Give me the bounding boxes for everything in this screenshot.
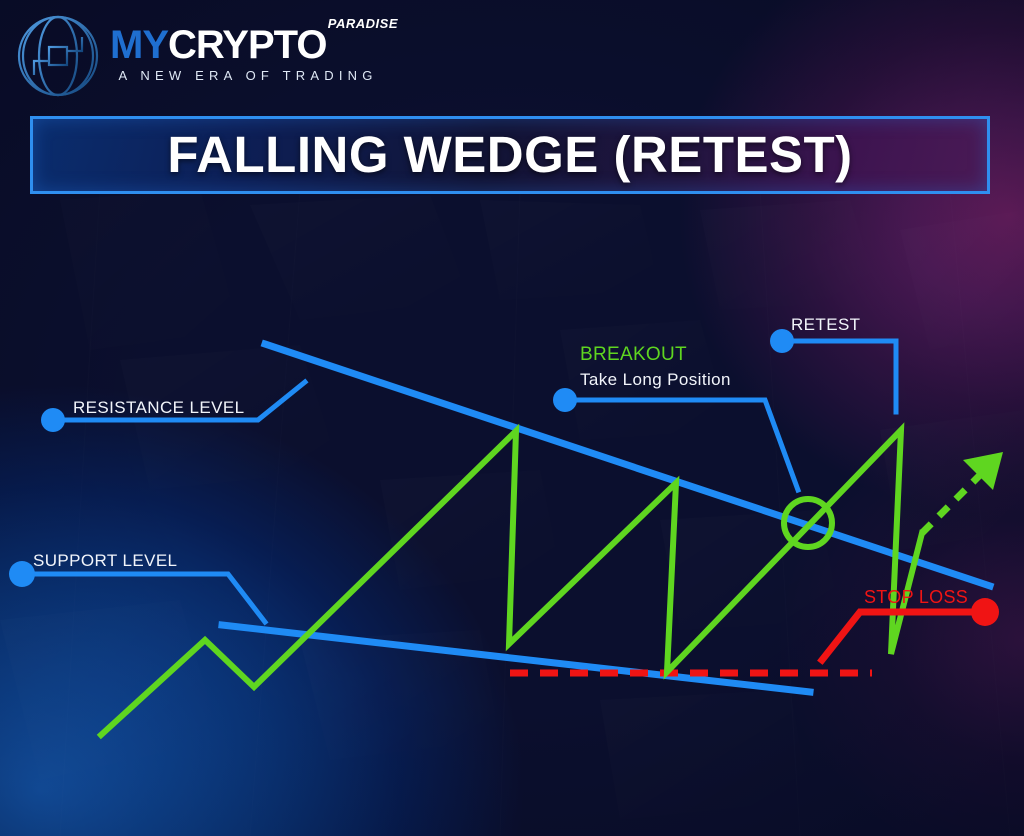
support-leader-dot [9,561,35,587]
breakout-leader-line [565,400,798,490]
support-leader-line [22,574,265,622]
pattern-chart [0,0,1024,836]
retest-label: RETEST [791,315,860,335]
continuation-arrow-head [963,452,1003,490]
infographic-canvas: PARADISE MYCRYPTO A NEW ERA OF TRADING F… [0,0,1024,836]
stop-loss-dot [971,598,999,626]
retest-leader-line [782,341,896,412]
stop-loss-leader-line [822,612,985,660]
breakout-leader-dot [553,388,577,412]
continuation-arrow-shaft [922,467,988,533]
breakout-label: BREAKOUT [580,344,687,366]
resistance-leader-dot [41,408,65,432]
take-long-position-label: Take Long Position [580,370,731,390]
resistance-level-label: RESISTANCE LEVEL [73,398,244,418]
stop-loss-label: STOP LOSS [864,587,968,608]
support-level-label: SUPPORT LEVEL [33,551,177,571]
